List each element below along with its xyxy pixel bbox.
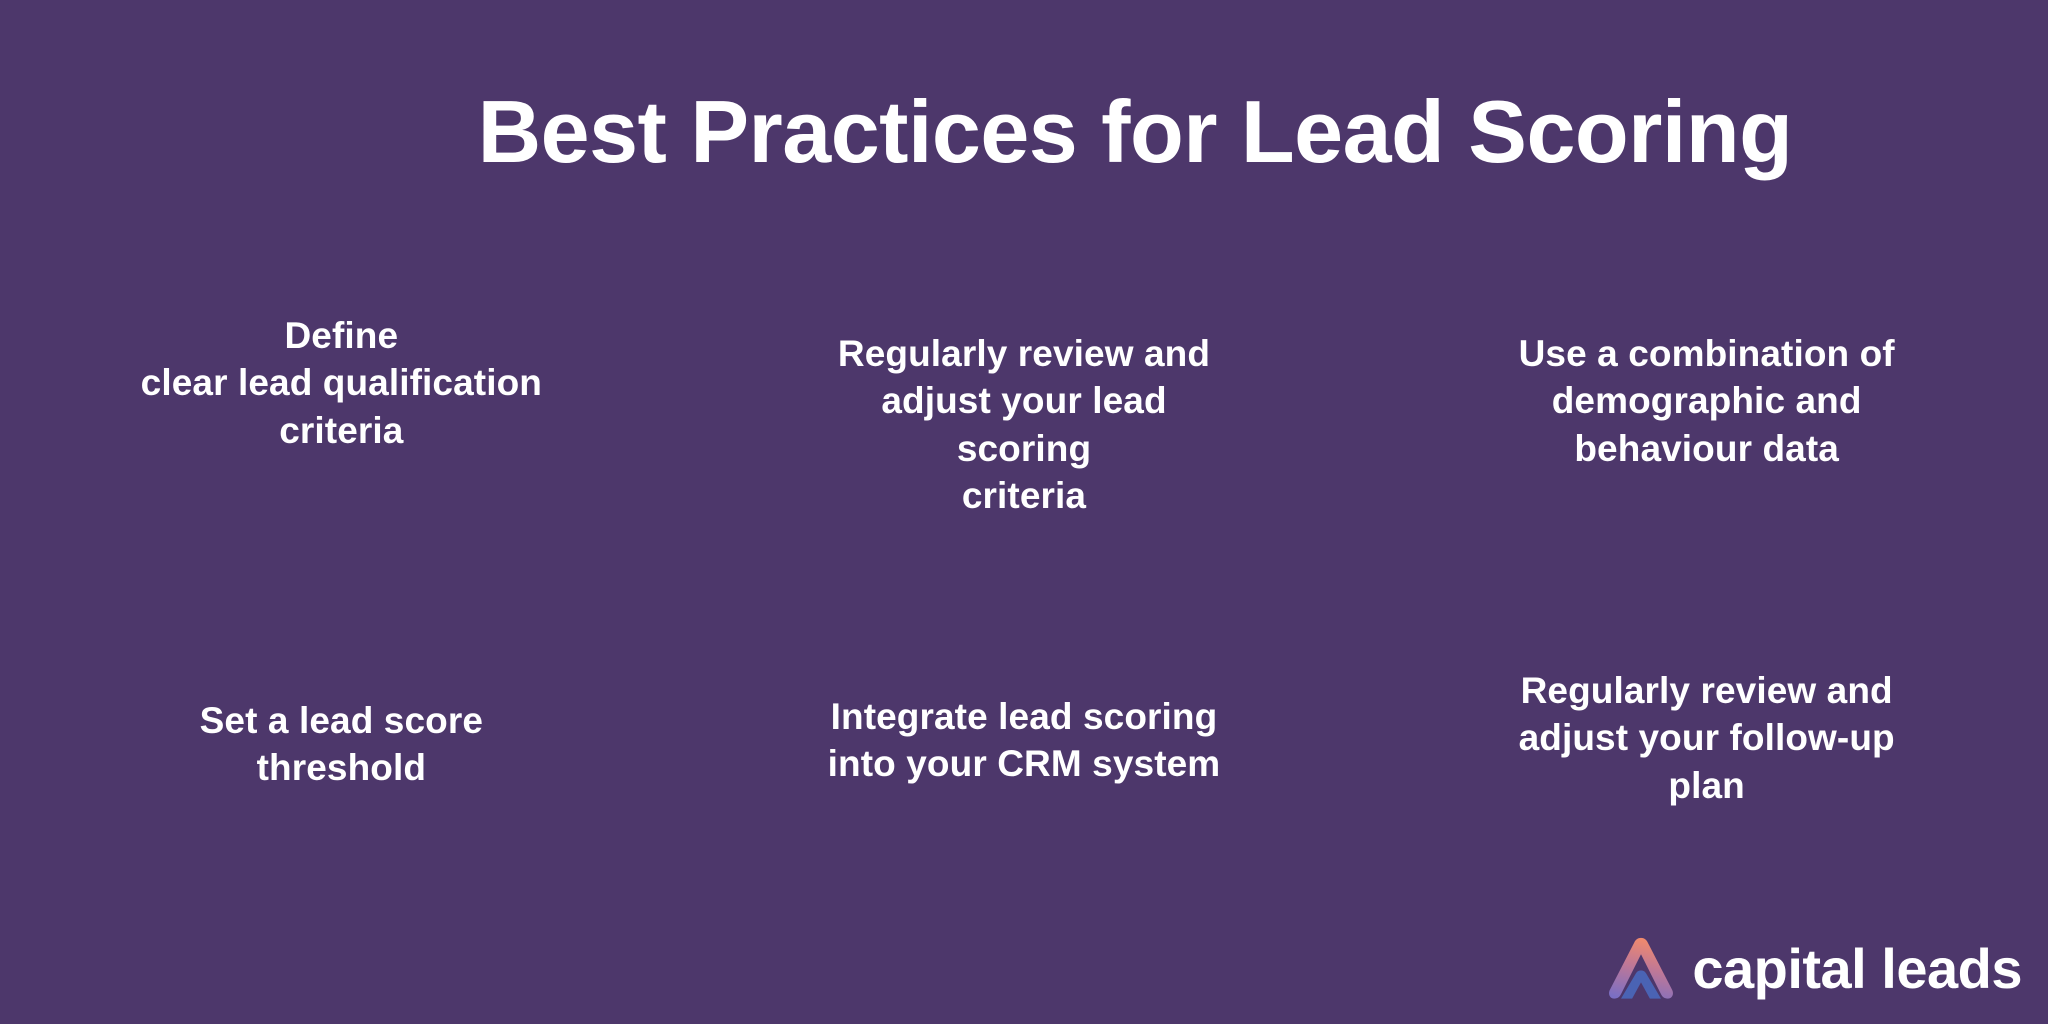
practice-text: Use a combination of demographic and beh… — [1519, 330, 1895, 472]
practice-cell-review-scoring-criteria: Regularly review and adjust your lead sc… — [683, 330, 1366, 625]
practice-text: Integrate lead scoring into your CRM sys… — [828, 693, 1221, 788]
practices-grid: Define clear lead qualification criteria… — [0, 330, 2048, 920]
practice-line: into your CRM system — [828, 740, 1221, 787]
practice-line: Define — [141, 312, 542, 359]
practice-line: adjust your lead scoring — [814, 377, 1234, 472]
practice-line: Regularly review and — [1519, 667, 1895, 714]
practice-line: clear lead qualification — [141, 359, 542, 406]
practice-cell-review-follow-up: Regularly review and adjust your follow-… — [1365, 625, 2048, 920]
practice-cell-crm-integration: Integrate lead scoring into your CRM sys… — [683, 625, 1366, 920]
practice-line: adjust your follow-up — [1519, 714, 1895, 761]
practice-text: Regularly review and adjust your follow-… — [1519, 667, 1895, 809]
practice-line: Set a lead score — [200, 697, 483, 744]
practice-cell-define-criteria: Define clear lead qualification criteria — [0, 330, 683, 625]
practice-line: criteria — [141, 407, 542, 454]
capital-leads-chevron-icon — [1604, 932, 1678, 1006]
page-title: Best Practices for Lead Scoring — [478, 88, 1793, 176]
slide-canvas: Best Practices for Lead Scoring Define c… — [0, 0, 2048, 1024]
practice-cell-score-threshold: Set a lead score threshold — [0, 625, 683, 920]
practice-line: threshold — [200, 744, 483, 791]
practice-text: Regularly review and adjust your lead sc… — [814, 330, 1234, 519]
brand-name: capital leads — [1692, 941, 2022, 997]
practice-text: Define clear lead qualification criteria — [141, 312, 542, 454]
practice-cell-combine-data: Use a combination of demographic and beh… — [1365, 330, 2048, 625]
practice-line: Integrate lead scoring — [828, 693, 1221, 740]
brand-logo: capital leads — [1604, 932, 2022, 1006]
practice-text: Set a lead score threshold — [200, 697, 483, 792]
practice-line: demographic and — [1519, 377, 1895, 424]
practice-line: Use a combination of — [1519, 330, 1895, 377]
practice-line: criteria — [814, 472, 1234, 519]
practice-line: Regularly review and — [814, 330, 1234, 377]
title-container: Best Practices for Lead Scoring — [0, 88, 2048, 176]
practice-line: behaviour data — [1519, 425, 1895, 472]
practice-line: plan — [1519, 762, 1895, 809]
